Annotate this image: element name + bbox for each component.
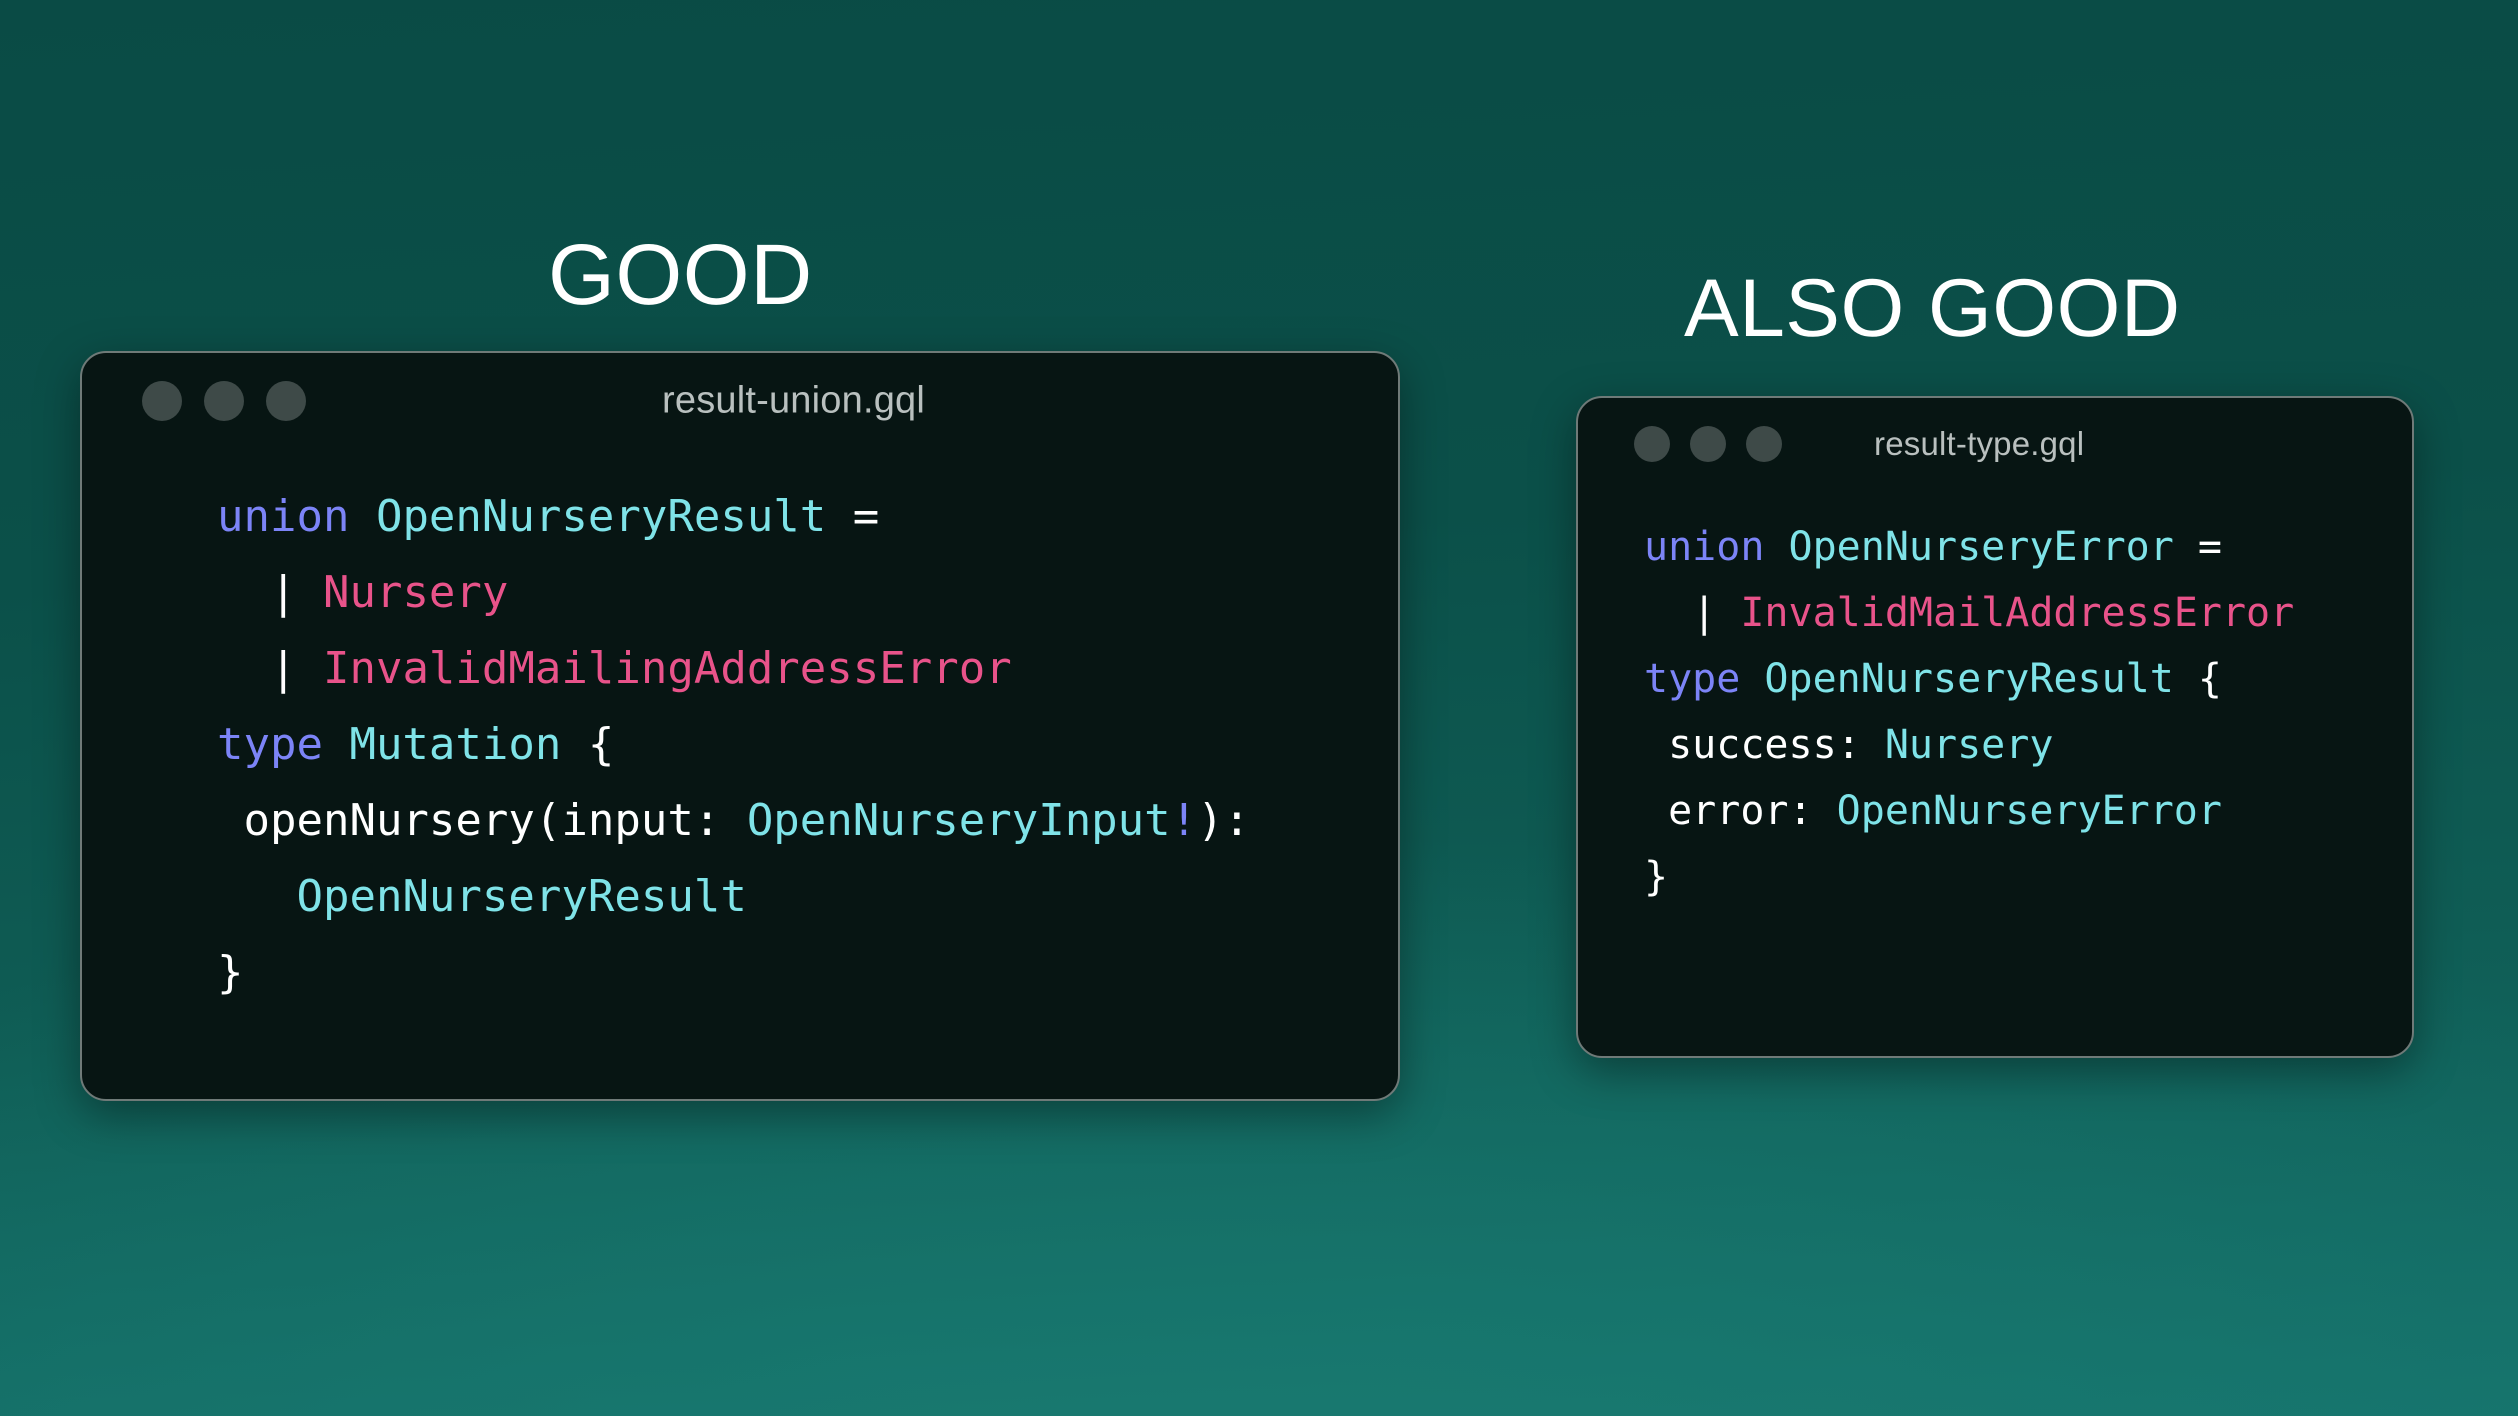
code-token-type: OpenNurseryResult — [1764, 656, 2173, 702]
code-line: OpenNurseryResult — [217, 859, 1398, 935]
close-dot[interactable] — [1634, 426, 1670, 462]
window-filename-label: result-union.gql — [662, 380, 925, 423]
code-line: | InvalidMailingAddressError — [217, 631, 1398, 707]
code-line: type Mutation { — [217, 707, 1398, 783]
code-token-type: OpenNurseryInput — [747, 795, 1171, 846]
code-line: error: OpenNurseryError — [1644, 778, 2412, 844]
code-token-pl: { — [2174, 656, 2222, 702]
code-line: } — [1644, 844, 2412, 910]
code-token-bang: ! — [1171, 795, 1198, 846]
code-token-type: OpenNurseryResult — [376, 491, 826, 542]
code-line: | Nursery — [217, 555, 1398, 631]
code-block-also-good: union OpenNurseryError = | InvalidMailAd… — [1578, 490, 2412, 910]
code-token-type: OpenNurseryError — [1837, 788, 2222, 834]
window-titlebar: result-union.gql — [82, 353, 1398, 449]
code-token-pl: } — [1644, 854, 1668, 900]
minimize-dot[interactable] — [1690, 426, 1726, 462]
code-token-pl: = — [2174, 524, 2222, 570]
code-token-kw: type — [1644, 656, 1764, 702]
code-token-err: InvalidMailAddressError — [1740, 590, 2294, 636]
close-dot[interactable] — [142, 381, 182, 421]
code-block-good: union OpenNurseryResult = | Nursery | In… — [82, 449, 1398, 1011]
code-token-err: InvalidMailingAddressError — [323, 643, 1012, 694]
code-token-type: Nursery — [1885, 722, 2054, 768]
window-filename-label: result-type.gql — [1874, 425, 2084, 463]
code-token-pl: ): — [1197, 795, 1250, 846]
slide-canvas: GOOD ALSO GOOD result-union.gql union Op… — [0, 0, 2518, 1416]
code-token-type: Mutation — [349, 719, 561, 770]
maximize-dot[interactable] — [1746, 426, 1782, 462]
code-line: openNursery(input: OpenNurseryInput!): — [217, 783, 1398, 859]
code-window-good: result-union.gql union OpenNurseryResult… — [80, 351, 1400, 1101]
heading-good: GOOD — [548, 232, 813, 318]
code-token-kw: type — [217, 719, 349, 770]
heading-also-good: ALSO GOOD — [1684, 268, 2181, 350]
code-token-pl: success: — [1644, 722, 1885, 768]
code-line: union OpenNurseryError = — [1644, 514, 2412, 580]
code-token-type: OpenNurseryError — [1789, 524, 2174, 570]
traffic-light-dots — [142, 381, 306, 421]
code-line: type OpenNurseryResult { — [1644, 646, 2412, 712]
code-token-type: OpenNurseryResult — [296, 871, 746, 922]
code-line: union OpenNurseryResult = — [217, 479, 1398, 555]
code-token-pl: { — [561, 719, 614, 770]
minimize-dot[interactable] — [204, 381, 244, 421]
code-line: success: Nursery — [1644, 712, 2412, 778]
code-token-pl: | — [217, 643, 323, 694]
code-line: | InvalidMailAddressError — [1644, 580, 2412, 646]
code-token-pl: openNursery(input: — [217, 795, 747, 846]
code-token-pl — [217, 871, 296, 922]
code-token-err: Nursery — [323, 567, 508, 618]
code-token-kw: union — [217, 491, 376, 542]
traffic-light-dots — [1634, 426, 1782, 462]
code-token-kw: union — [1644, 524, 1789, 570]
code-window-also-good: result-type.gql union OpenNurseryError =… — [1576, 396, 2414, 1058]
code-token-pl: = — [826, 491, 879, 542]
window-titlebar: result-type.gql — [1578, 398, 2412, 490]
maximize-dot[interactable] — [266, 381, 306, 421]
code-token-pl: | — [1644, 590, 1740, 636]
code-token-pl: } — [217, 947, 244, 998]
code-token-pl: error: — [1644, 788, 1837, 834]
code-line: } — [217, 935, 1398, 1011]
code-token-pl: | — [217, 567, 323, 618]
